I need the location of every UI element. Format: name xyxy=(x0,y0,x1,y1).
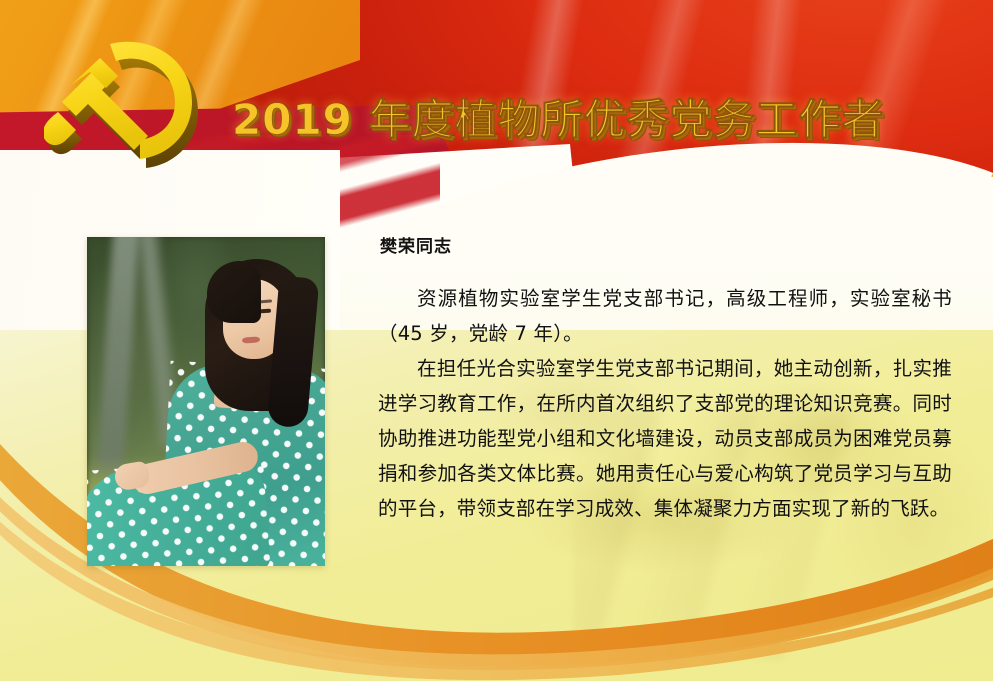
profile-photo xyxy=(87,237,325,566)
hammer-and-sickle-icon xyxy=(44,28,234,176)
profile-paragraph-1: 资源植物实验室学生党支部书记，高级工程师，实验室秘书（45 岁，党龄 7 年）。 xyxy=(378,281,952,351)
profile-name: 樊荣同志 xyxy=(380,232,452,257)
photo-hair-front xyxy=(207,261,261,323)
profile-paragraph-2: 在担任光合实验室学生党支部书记期间，她主动创新，扎实推进学习教育工作，在所内首次… xyxy=(378,351,952,526)
profile-description: 资源植物实验室学生党支部书记，高级工程师，实验室秘书（45 岁，党龄 7 年）。… xyxy=(378,281,952,526)
page-title: 2019 年度植物所优秀党务工作者 xyxy=(232,86,885,147)
award-poster: 2019 年度植物所优秀党务工作者 樊荣同志 资源植物实验室学生党支部书记，高级… xyxy=(0,0,993,681)
